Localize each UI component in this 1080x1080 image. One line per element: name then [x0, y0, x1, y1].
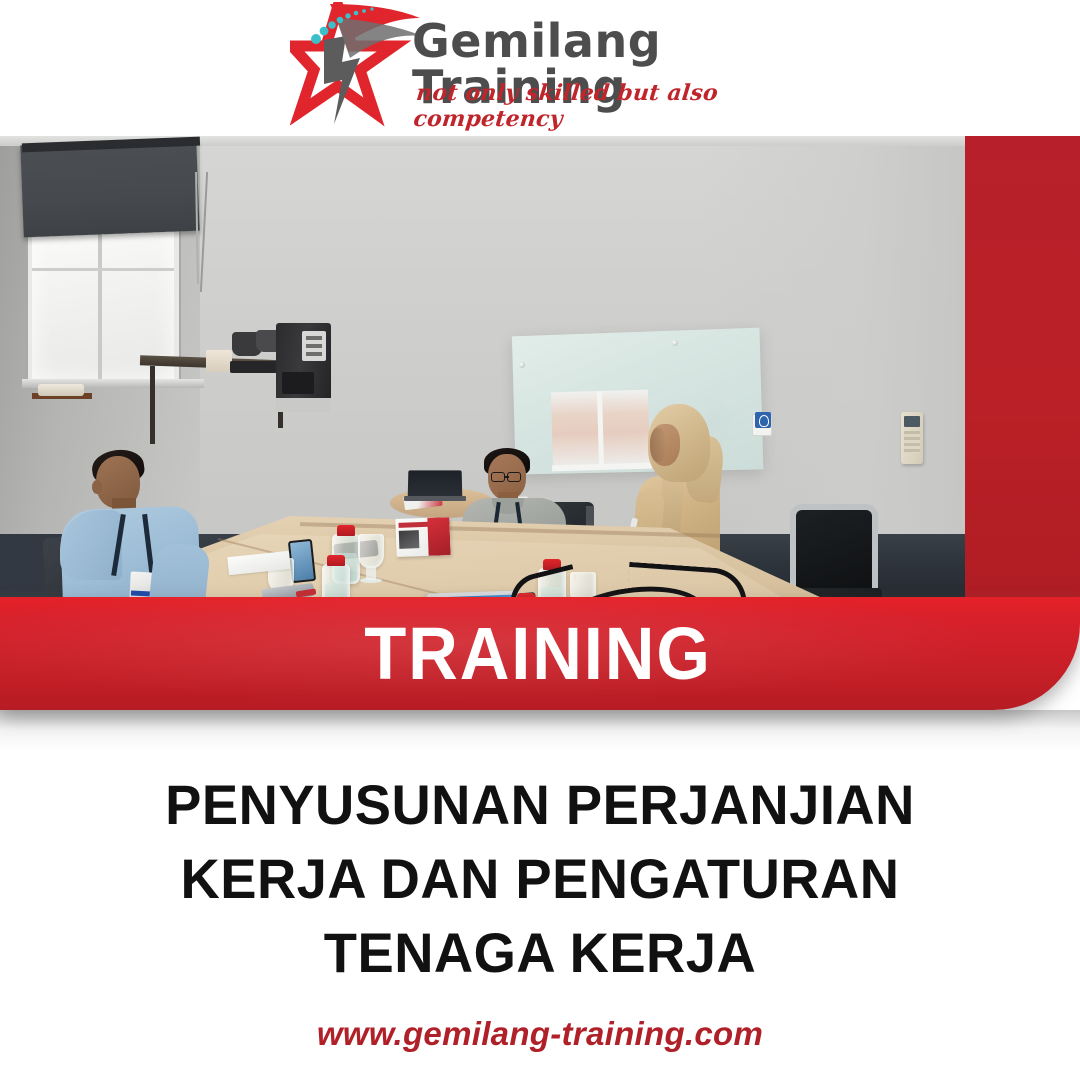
stacking-chair-back: [790, 504, 878, 596]
whiteboard-window-reflection: [551, 390, 650, 469]
wall-phone-screen: [904, 416, 920, 427]
participant-two-glasses-right: [507, 472, 521, 482]
course-title-line-1: PENYUSUNAN PERJANJIAN: [16, 768, 1064, 842]
coffee-button-one: [306, 336, 322, 340]
coffee-button-two: [306, 344, 322, 348]
table-tent-card: [395, 517, 450, 557]
emergency-exit-sign-icon: [755, 412, 771, 428]
window-mullion-vertical: [98, 212, 102, 380]
participant-two-glasses-left: [491, 472, 505, 482]
training-banner: TRAINING: [0, 597, 1080, 710]
participant-two-glasses-bridge: [505, 476, 509, 478]
background-laptop-base: [404, 496, 466, 501]
coffee-drip-area: [282, 372, 314, 394]
cup-stack: [206, 350, 232, 372]
coffee-machine-base: [276, 398, 331, 412]
course-title-line-2: KERJA DAN PENGATURAN: [16, 842, 1064, 916]
coffee-button-three: [306, 352, 322, 356]
counter-leg-left: [150, 366, 155, 444]
participant-one-badge-strip: [131, 590, 151, 596]
course-title: PENYUSUNAN PERJANJIAN KERJA DAN PENGATUR…: [16, 768, 1064, 990]
water-bottle-mid: [322, 564, 350, 598]
banner-label: TRAINING: [36, 597, 1040, 710]
whiteboard-screw-top-right: [672, 340, 678, 346]
training-session-photo: [0, 136, 966, 598]
right-accent-block: [965, 136, 1080, 598]
website-url[interactable]: www.gemilang-training.com: [0, 1015, 1080, 1053]
serving-tray: [230, 361, 278, 373]
header-bar: Gemilang Training not only skilled but a…: [0, 0, 1080, 136]
wine-glass-back: [358, 534, 384, 568]
roller-blind: [20, 139, 199, 238]
whiteboard-screw-top-left: [519, 362, 525, 368]
bottom-section: PENYUSUNAN PERJANJIAN KERJA DAN PENGATUR…: [0, 710, 1080, 1080]
course-title-line-3: TENAGA KERJA: [16, 916, 1064, 990]
wall-phone-keypad: [904, 431, 920, 453]
window-mullion-horizontal: [32, 268, 174, 271]
participant-one-ear: [92, 480, 102, 494]
snack-items: [38, 384, 84, 396]
presenter-face-shadow: [650, 428, 666, 462]
brand-logo[interactable]: Gemilang Training not only skilled but a…: [290, 2, 810, 128]
brand-tagline: not only skilled but also competency: [412, 80, 817, 132]
banner-drop-shadow: [0, 710, 1080, 752]
star-swoosh-logo-icon: [290, 2, 430, 128]
